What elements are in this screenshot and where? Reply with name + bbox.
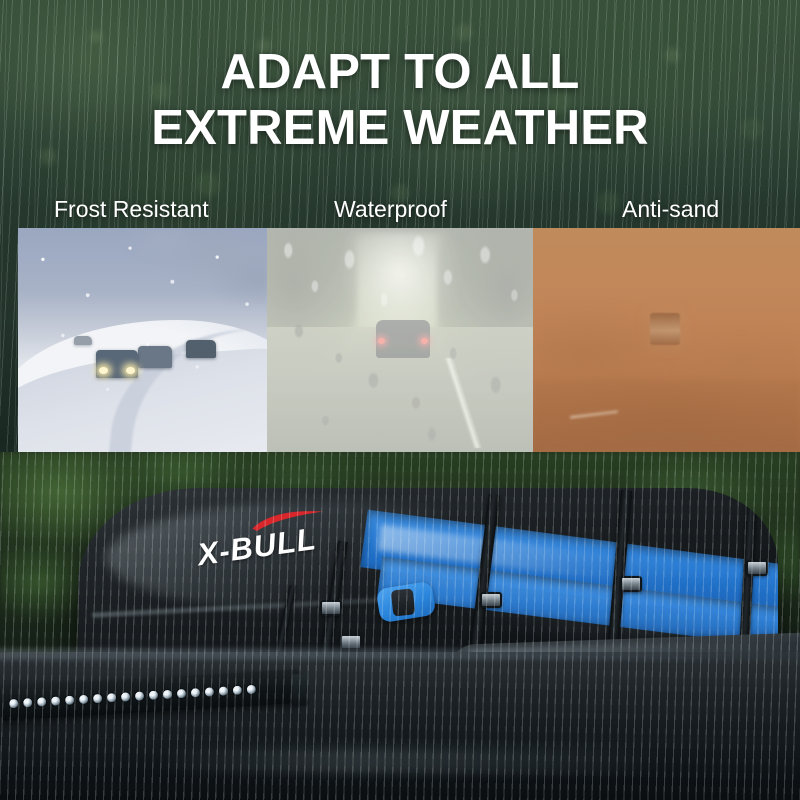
led-lamp [246,683,258,695]
condition-image-waterproof [267,228,533,452]
led-lamp [92,692,104,704]
handle-strap-slot [391,588,416,616]
led-lamp [134,690,146,702]
led-lamp [50,695,62,707]
vehicle-roof-edge [0,648,800,660]
led-lamp [176,687,188,699]
led-lamp [218,685,230,697]
page-title: ADAPT TO ALL EXTREME WEATHER [0,44,800,156]
condition-label-antisand: Anti-sand [622,194,719,224]
dust-haze-overlay [533,228,800,452]
condition-label-waterproof: Waterproof [334,194,447,224]
led-lamp [148,689,160,701]
windshield-water-droplets [267,228,533,452]
led-lamp [36,696,48,708]
vehicle-bonnet-highlight [150,748,670,774]
hero-product-scene: X-BULL [0,452,800,800]
strap-buckle-3 [480,592,502,608]
promo-banner: ADAPT TO ALL EXTREME WEATHER Frost Resis… [0,0,800,800]
led-lamp [22,696,34,708]
led-lamp [204,686,216,698]
led-lamp [78,693,90,705]
light-bar-mount [291,674,309,707]
condition-image-antisand [533,228,800,452]
led-lamp [162,688,174,700]
strap-buckle-5 [620,576,642,592]
falling-snow-overlay [18,228,267,452]
strap-buckle-1 [320,600,342,616]
condition-labels: Frost Resistant Waterproof Anti-sand [0,194,800,228]
led-lamp [106,691,118,703]
led-lamp [8,697,20,709]
condition-label-frost: Frost Resistant [54,194,209,224]
led-lamp [232,684,244,696]
condition-image-frost [18,228,267,452]
led-lamp [190,686,202,698]
led-lamp [120,691,132,703]
strap-buckle-6 [746,560,768,576]
led-lamp [64,694,76,706]
condition-panels [0,228,800,452]
